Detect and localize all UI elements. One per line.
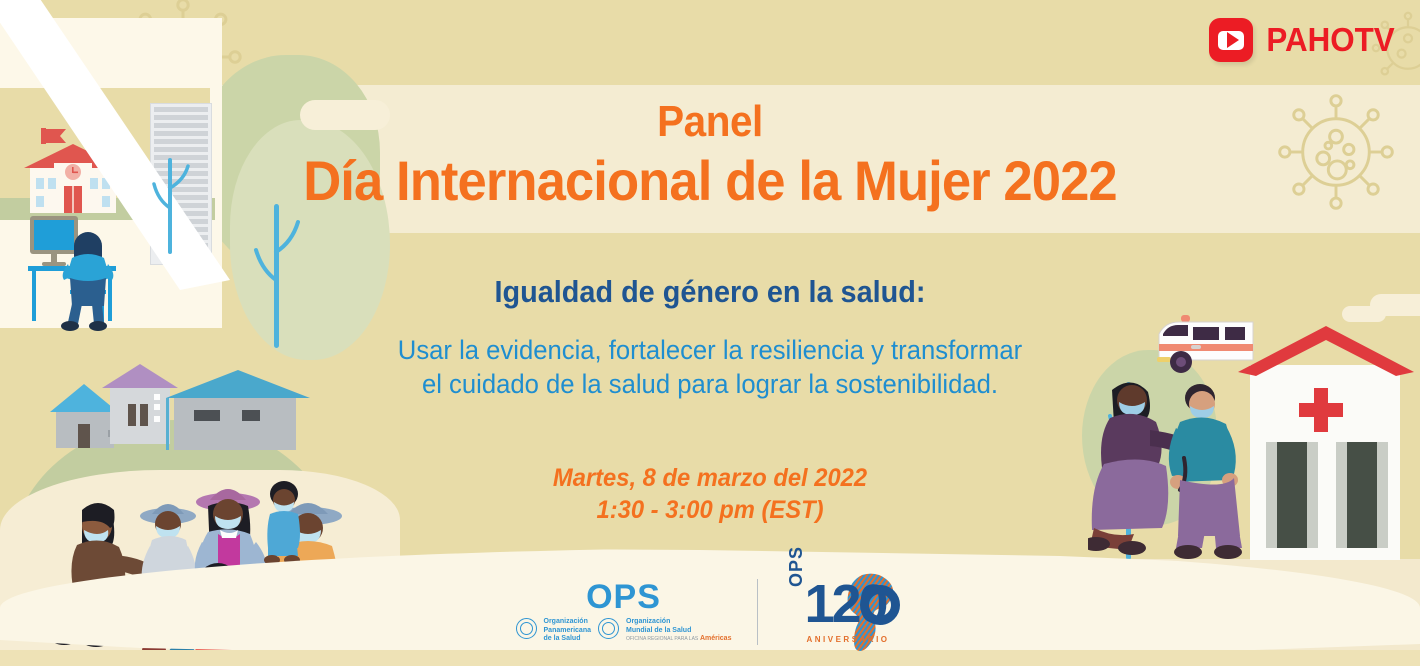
who-region-small: OFICINA REGIONAL PARA LAS: [626, 636, 698, 642]
subtitle-line-2: el cuidado de la salud para lograr la so…: [36, 367, 1385, 401]
text-content: Panel Día Internacional de la Mujer 2022…: [0, 0, 1420, 666]
youtube-play-icon[interactable]: [1209, 18, 1253, 62]
event-schedule: Martes, 8 de marzo del 2022 1:30 - 3:00 …: [36, 462, 1385, 526]
pahotv-logo[interactable]: PAHOTV: [1209, 18, 1398, 62]
paho-line-1: Organización: [544, 618, 588, 625]
paho-seal-icon: [516, 618, 537, 639]
paho-line-3: de la Salud: [544, 635, 581, 642]
event-date: Martes, 8 de marzo del 2022: [36, 462, 1385, 494]
who-name: Organización Mundial de la Salud OFICINA…: [626, 618, 731, 643]
event-time: 1:30 - 3:00 pm (EST): [36, 494, 1385, 526]
play-triangle-icon: [1227, 32, 1239, 48]
paho-name: Organización Panamericana de la Salud: [544, 618, 591, 643]
subtitle-description: Usar la evidencia, fortalecer la resilie…: [36, 333, 1385, 401]
who-region: Américas: [700, 635, 732, 642]
page-title: Día Internacional de la Mujer 2022: [43, 148, 1378, 213]
who-seal-icon: [598, 618, 619, 639]
paho-line-2: Panamericana: [544, 627, 591, 634]
anniversary-logo: OPS 120 ANIVERSARIO: [784, 573, 904, 651]
youtube-play-inner: [1218, 31, 1244, 50]
eyebrow-label: Panel: [57, 97, 1363, 147]
who-line-1: Organización: [626, 618, 670, 625]
who-line-2: Mundial de la Salud: [626, 627, 691, 634]
ops-sublogos: Organización Panamericana de la Salud Or…: [516, 618, 732, 643]
anniversary-caption: ANIVERSARIO: [806, 635, 889, 644]
logo-divider: [757, 579, 758, 645]
ops-logo: OPS Organización Panamericana de la Salu…: [516, 580, 732, 643]
pahotv-label: PAHOTV: [1266, 21, 1394, 59]
event-banner: Panel Día Internacional de la Mujer 2022…: [0, 0, 1420, 666]
subtitle-line-1: Usar la evidencia, fortalecer la resilie…: [36, 333, 1385, 367]
organization-logos: OPS Organización Panamericana de la Salu…: [0, 573, 1420, 651]
ops-wordmark: OPS: [586, 580, 661, 614]
subtitle-heading: Igualdad de género en la salud:: [50, 274, 1371, 310]
